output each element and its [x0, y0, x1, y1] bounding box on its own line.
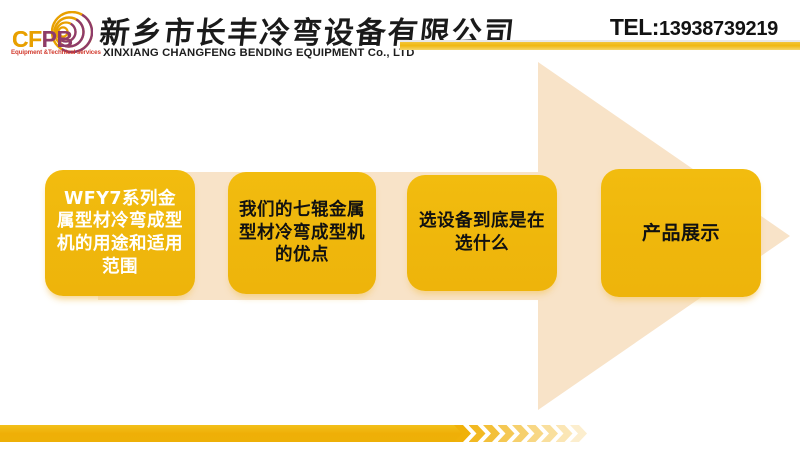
company-logo: CFPB Equipment &Technical services	[8, 8, 100, 64]
chevron-right-icon	[570, 425, 587, 442]
chevron-right-icon	[498, 425, 515, 442]
chevron-right-icon	[527, 425, 544, 442]
slide-header: CFPB Equipment &Technical services 新乡市长丰…	[0, 0, 800, 72]
logo-tagline: Equipment &Technical services	[11, 49, 111, 56]
telephone-contact: TEL:13938739219	[610, 14, 778, 41]
slide-footer	[0, 425, 800, 443]
header-divider-bar	[400, 42, 800, 50]
topic-card-2[interactable]: 我们的七辊金属型材冷弯成型机的优点	[228, 172, 376, 294]
topic-card-2-label: 我们的七辊金属型材冷弯成型机的优点	[228, 199, 376, 267]
company-name-english: XINXIANG CHANGFENG BENDING EQUIPMENT Co.…	[103, 47, 415, 59]
topic-card-3-label: 选设备到底是在选什么	[407, 210, 557, 256]
chevron-right-icon	[483, 425, 500, 442]
chevron-right-icon	[512, 425, 529, 442]
chevron-right-icon	[541, 425, 558, 442]
telephone-number: 13938739219	[659, 18, 778, 40]
slide-canvas: CFPB Equipment &Technical services 新乡市长丰…	[0, 0, 800, 450]
topic-card-1[interactable]: WFY7系列金属型材冷弯成型机的用途和适用范围	[45, 170, 195, 296]
chevron-right-icon	[556, 425, 573, 442]
topic-card-3[interactable]: 选设备到底是在选什么	[407, 175, 557, 291]
footer-accent-bar	[0, 425, 462, 442]
telephone-label: TEL:	[610, 14, 659, 40]
topic-card-4[interactable]: 产品展示	[601, 169, 761, 297]
topic-card-1-label: WFY7系列金属型材冷弯成型机的用途和适用范围	[45, 188, 195, 279]
topic-card-4-label: 产品展示	[632, 221, 730, 246]
chevron-right-icon	[469, 425, 486, 442]
